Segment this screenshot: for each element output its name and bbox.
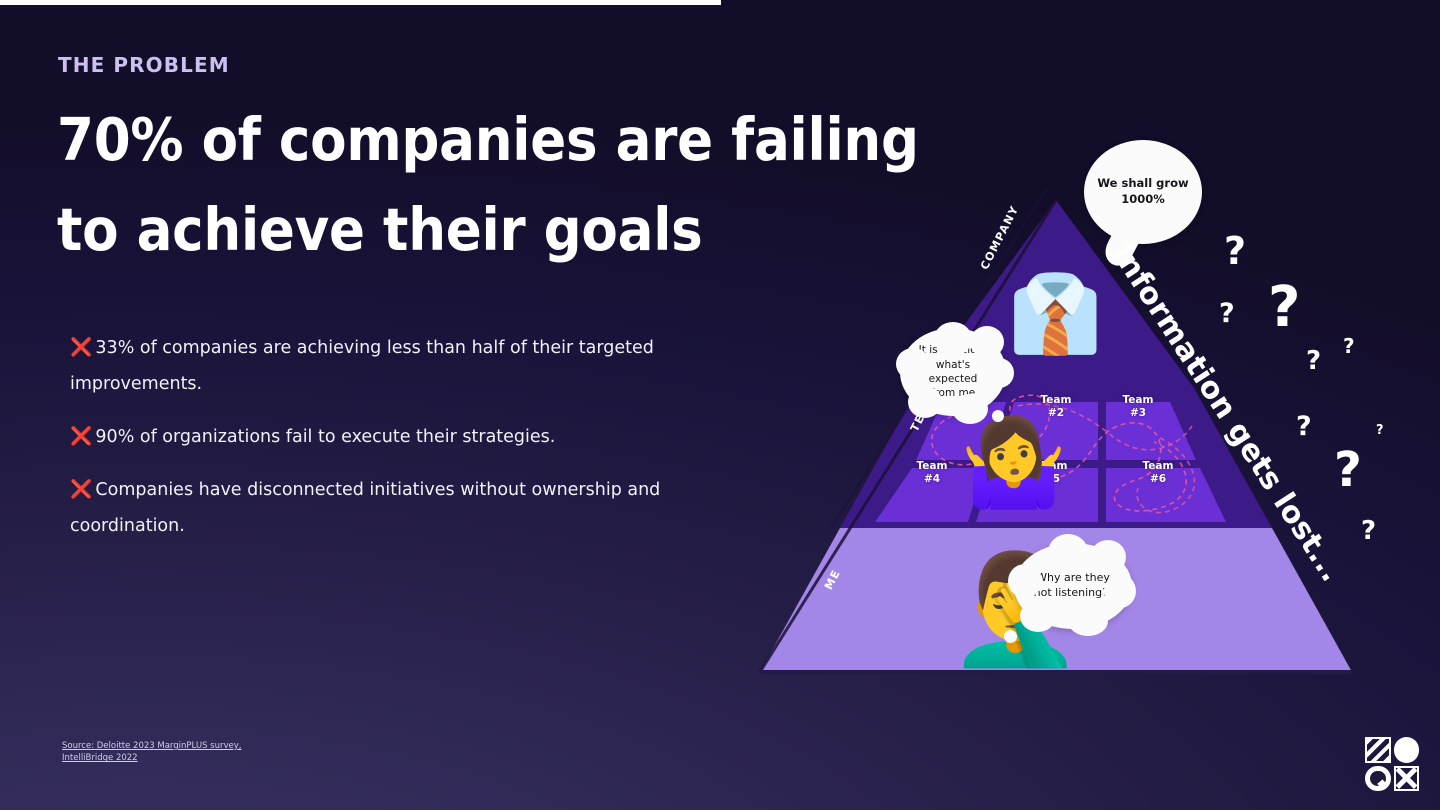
cloud-puff: [1008, 564, 1042, 598]
cloud-puff: [1104, 574, 1136, 608]
question-mark-icon: ?: [1361, 518, 1376, 544]
question-mark-icon: ?: [1334, 446, 1362, 494]
cloud-puff: [952, 394, 988, 424]
cloud-puff-small: [992, 410, 1004, 422]
question-mark-icon: ?: [1219, 300, 1235, 327]
question-mark-icon: ?: [1296, 413, 1312, 440]
cloud-puff: [1048, 534, 1088, 570]
list-item-text: Companies have disconnected initiatives …: [70, 480, 660, 536]
list-item-text: 90% of organizations fail to execute the…: [95, 427, 555, 447]
cloud-puff: [970, 326, 1004, 358]
cloud-puff-small: [1004, 630, 1017, 643]
question-mark-icon: ?: [1376, 424, 1384, 437]
question-mark-icon: ?: [1343, 336, 1355, 356]
cross-mark-icon: ❌: [70, 479, 92, 500]
cloud-puff: [896, 348, 930, 380]
cloud-puff: [908, 386, 942, 418]
question-mark-icon: ?: [1268, 280, 1300, 336]
cloud-puff: [1090, 540, 1126, 574]
team-label: Team #3: [1114, 394, 1162, 420]
shrug-person-icon: 🤷‍♀️: [960, 420, 1067, 506]
slide-root: THE PROBLEM 70% of companies are failing…: [0, 0, 1440, 810]
source-citation[interactable]: Source: Deloitte 2023 MarginPLUS survey,…: [62, 740, 292, 765]
cloud-puff: [1068, 606, 1108, 636]
team-label: Team #4: [908, 460, 956, 486]
eyebrow-label: THE PROBLEM: [58, 53, 230, 77]
pyramid-illustration: COMPANY TEAMS ME Team #1 Team #2 Team #3…: [756, 188, 1356, 688]
cloud-puff: [934, 322, 972, 356]
bullet-list: ❌33% of companies are achieving less tha…: [70, 330, 760, 560]
brand-logo: [1365, 737, 1419, 791]
filled-circle-icon: [1394, 737, 1420, 763]
cross-mark-icon: ❌: [70, 426, 92, 447]
cloud-puff: [1020, 600, 1056, 632]
x-cross-icon: [1394, 766, 1420, 792]
necktie-shirt-icon: 👔: [1008, 276, 1103, 352]
team-label: Team #6: [1134, 460, 1182, 486]
list-item-text: 33% of companies are achieving less than…: [70, 338, 654, 394]
list-item: ❌33% of companies are achieving less tha…: [70, 330, 760, 403]
striped-square-icon: [1365, 737, 1391, 763]
q-ring-icon: [1365, 766, 1391, 792]
question-mark-icon: ?: [1224, 232, 1246, 270]
cloud-puff: [984, 358, 1014, 388]
list-item: ❌90% of organizations fail to execute th…: [70, 419, 760, 456]
speech-bubble-company: We shall grow 1000%: [1084, 140, 1202, 244]
cross-mark-icon: ❌: [70, 337, 92, 358]
top-accent-strip: [0, 0, 721, 5]
list-item: ❌Companies have disconnected initiatives…: [70, 472, 760, 545]
question-mark-icon: ?: [1306, 348, 1321, 374]
